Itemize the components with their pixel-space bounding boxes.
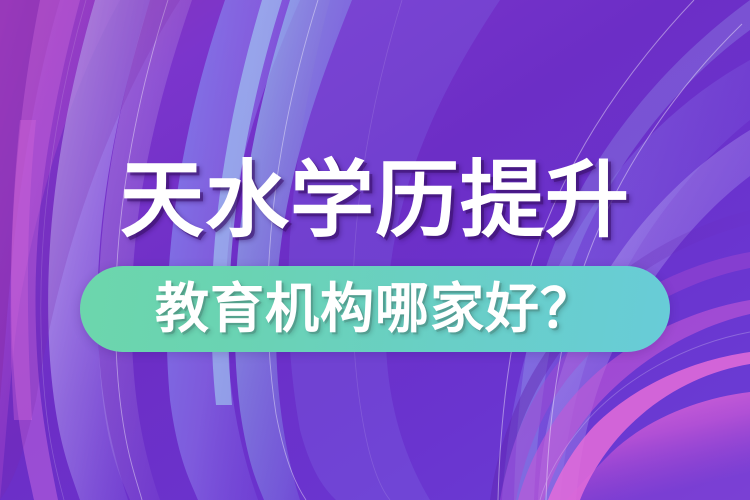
background-waves — [0, 0, 750, 500]
subtitle-pill: 教育机构哪家好？ — [80, 266, 670, 352]
subtitle-pill-label: 教育机构哪家好？ — [155, 279, 595, 339]
headline-container: 天水学历提升 — [0, 152, 750, 248]
banner-headline: 天水学历提升 — [120, 152, 630, 248]
promo-banner: 天水学历提升 教育机构哪家好？ — [0, 0, 750, 500]
